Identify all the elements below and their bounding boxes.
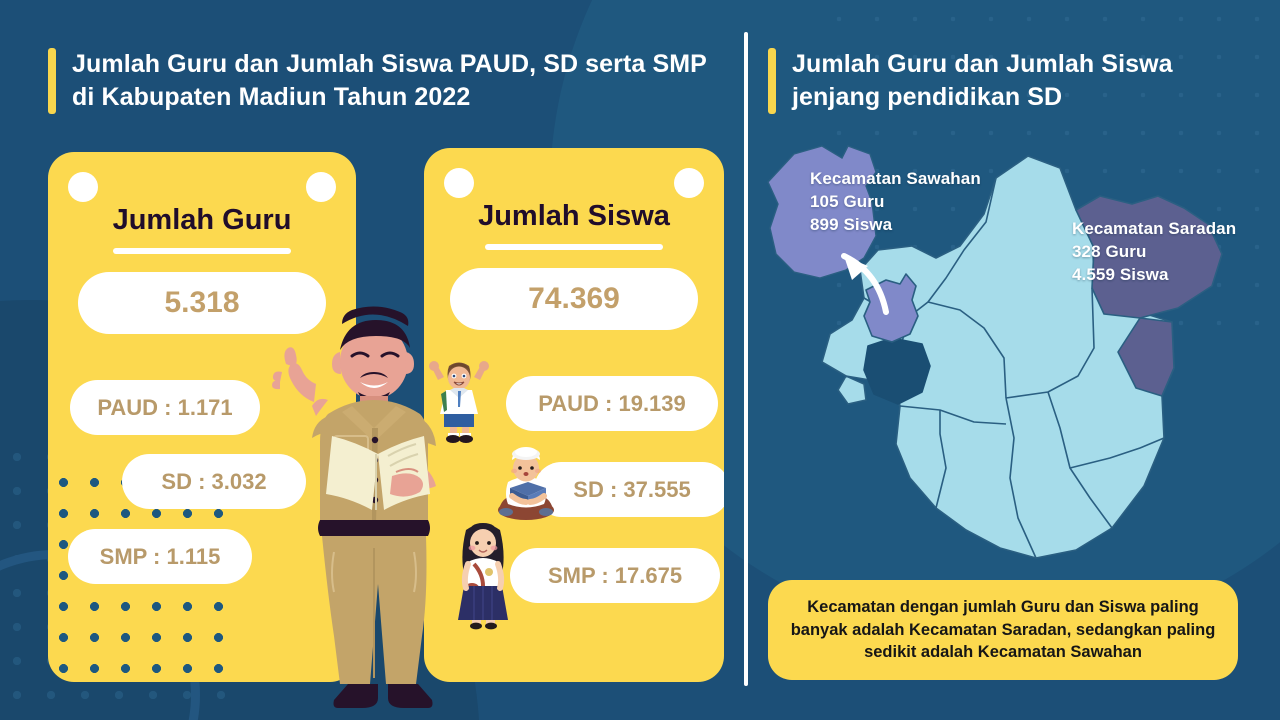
map-caption-text: Kecamatan dengan jumlah Guru dan Siswa p… xyxy=(784,596,1222,664)
right-panel-title: Jumlah Guru dan Jumlah Siswa jenjang pen… xyxy=(768,48,1238,114)
card-punch-hole-right-icon xyxy=(674,168,704,198)
right-panel-title-text: Jumlah Guru dan Jumlah Siswa jenjang pen… xyxy=(792,48,1238,113)
map-label-sawahan-siswa: 899 Siswa xyxy=(810,214,981,237)
map-label-sawahan: Kecamatan Sawahan 105 Guru 899 Siswa xyxy=(810,168,981,236)
boy-reading-quran-illustration xyxy=(488,444,564,522)
card-title: Jumlah Siswa xyxy=(424,200,724,233)
level-value-paud: PAUD : 19.139 xyxy=(506,376,718,431)
card-total-value: 74.369 xyxy=(450,268,698,330)
left-panel-title-text: Jumlah Guru dan Jumlah Siswa PAUD, SD se… xyxy=(72,48,708,113)
level-value-paud: PAUD : 1.171 xyxy=(70,380,260,435)
card-punch-hole-left-icon xyxy=(444,168,474,198)
card-punch-hole-left-icon xyxy=(68,172,98,202)
title-accent-bar xyxy=(768,48,776,114)
card-title-underline xyxy=(113,248,291,254)
level-value-smp: SMP : 1.115 xyxy=(68,529,252,584)
map-label-saradan: Kecamatan Saradan 328 Guru 4.559 Siswa xyxy=(1072,218,1236,286)
card-punch-hole-right-icon xyxy=(306,172,336,202)
card-title: Jumlah Guru xyxy=(48,204,356,237)
panel-divider xyxy=(744,32,748,686)
map-label-sawahan-guru: 105 Guru xyxy=(810,191,981,214)
map-label-saradan-siswa: 4.559 Siswa xyxy=(1072,264,1236,287)
map-label-sawahan-name: Kecamatan Sawahan xyxy=(810,168,981,191)
map-caption-box: Kecamatan dengan jumlah Guru dan Siswa p… xyxy=(768,580,1238,680)
map-label-saradan-guru: 328 Guru xyxy=(1072,241,1236,264)
title-accent-bar xyxy=(48,48,56,114)
map-label-saradan-name: Kecamatan Saradan xyxy=(1072,218,1236,241)
level-value-smp: SMP : 17.675 xyxy=(510,548,720,603)
card-title-underline xyxy=(485,244,663,250)
left-panel-title: Jumlah Guru dan Jumlah Siswa PAUD, SD se… xyxy=(48,48,708,114)
teacher-with-book-illustration xyxy=(256,306,466,720)
map-kabupaten-madiun: Kecamatan Sawahan 105 Guru 899 Siswa Kec… xyxy=(760,138,1272,572)
